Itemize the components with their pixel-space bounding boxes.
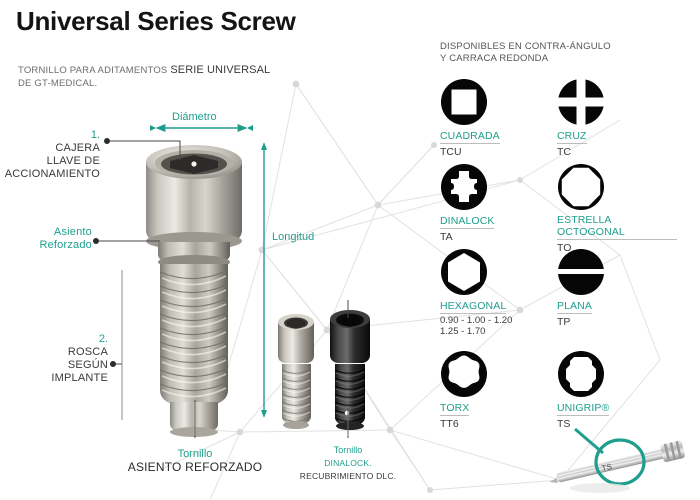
callout-rosca-line3: IMPLANTE: [0, 372, 108, 385]
callout-rosca-line2: SEGÚN: [0, 359, 108, 372]
intro-line2: DE GT-MEDICAL.: [18, 77, 278, 90]
driver-cell-estrella-octogonal[interactable]: ESTRELLA OCTOGONAL TO: [557, 163, 677, 254]
callout-rosca-number: 2.: [0, 333, 108, 346]
callout-cajera: 1. CAJERA LLAVE DE ACCIONAMIENTO: [0, 129, 100, 181]
driver-code-cruz: TC: [557, 146, 677, 158]
length-label: Longitud: [272, 231, 314, 243]
driver-cell-dinalock[interactable]: DINALOCK TA: [440, 163, 560, 243]
right-panel-header-line1: DISPONIBLES EN CONTRA-ÁNGULO: [440, 41, 611, 53]
driver-name-estrella-octogonal: ESTRELLA OCTOGONAL: [557, 214, 677, 240]
driver-name-dinalock: DINALOCK: [440, 215, 494, 229]
intro-caption: TORNILLO PARA ADITAMENTOS SERIE UNIVERSA…: [18, 64, 278, 90]
callout-cajera-line1: CAJERA: [0, 142, 100, 155]
caption-dinalock-mid: DINALOCK.: [283, 457, 413, 470]
driver-cell-hexagonal[interactable]: HEXAGONAL 0.90 - 1.00 - 1.20 1.25 - 1.70: [440, 248, 560, 337]
right-panel-header: DISPONIBLES EN CONTRA-ÁNGULO Y CARRACA R…: [440, 41, 611, 65]
driver-name-unigrip: UNIGRIP®: [557, 402, 609, 416]
driver-name-torx: TORX: [440, 402, 469, 416]
caption-main-screw: Tornillo ASIENTO REFORZADO: [120, 448, 270, 474]
tool-marking-text: TS: [601, 462, 613, 473]
driver-cell-unigrip[interactable]: UNIGRIP® TS: [557, 350, 677, 430]
driver-name-hexagonal: HEXAGONAL: [440, 300, 506, 314]
hexagon-drive-icon: [440, 248, 488, 296]
callout-asiento-line2: Reforzado: [0, 239, 92, 252]
caption-dinalock-bottom: RECUBRIMIENTO DLC.: [283, 470, 413, 483]
octagon-drive-icon: [557, 163, 605, 211]
driver-sizes-hexagonal: 0.90 - 1.00 - 1.20 1.25 - 1.70: [440, 315, 560, 337]
caption-dinalock-top: Tornillo: [283, 444, 413, 457]
intro-line1-strong: SERIE UNIVERSAL: [170, 64, 270, 76]
callout-cajera-number: 1.: [0, 129, 100, 142]
cross-drive-icon: [557, 78, 605, 126]
intro-line1-small: TORNILLO PARA ADITAMENTOS: [18, 65, 167, 76]
driver-name-plana: PLANA: [557, 300, 592, 314]
callout-rosca-line1: ROSCA: [0, 346, 108, 359]
driver-name-cruz: CRUZ: [557, 130, 587, 144]
caption-main-screw-bottom: ASIENTO REFORZADO: [120, 461, 270, 474]
dinalock-dlc-screw-illustration: [322, 305, 378, 440]
tool-marking-pointer-line: [575, 429, 603, 453]
torx-drive-icon: [440, 350, 488, 398]
callout-rosca: 2. ROSCA SEGÚN IMPLANTE: [0, 333, 108, 385]
driver-cell-torx[interactable]: TORX TT6: [440, 350, 560, 430]
dinalock-drive-icon: [440, 163, 488, 211]
driver-cell-cuadrada[interactable]: CUADRADA TCU: [440, 78, 560, 158]
main-screw-illustration: [138, 138, 262, 438]
driver-tool-illustration: TS: [545, 425, 700, 500]
callout-asiento-reforzado: Asiento Reforzado: [0, 226, 92, 252]
caption-dinalock-screw: Tornillo DINALOCK. RECUBRIMIENTO DLC.: [283, 444, 413, 483]
callout-cajera-line3: ACCIONAMIENTO: [0, 168, 100, 181]
driver-cell-cruz[interactable]: CRUZ TC: [557, 78, 677, 158]
flat-drive-icon: [557, 248, 605, 296]
driver-code-torx: TT6: [440, 418, 560, 430]
poster-root: Universal Series Screw TORNILLO PARA ADI…: [0, 0, 700, 500]
square-drive-icon: [440, 78, 488, 126]
unigrip-drive-icon: [557, 350, 605, 398]
small-steel-screw-illustration: [270, 310, 322, 440]
driver-code-dinalock: TA: [440, 231, 560, 243]
diameter-label: Diámetro: [172, 111, 217, 123]
driver-code-plana: TP: [557, 316, 677, 328]
driver-cell-plana[interactable]: PLANA TP: [557, 248, 677, 328]
callout-asiento-line1: Asiento: [0, 226, 92, 239]
page-title: Universal Series Screw: [16, 6, 296, 37]
right-panel-header-line2: Y CARRACA REDONDA: [440, 53, 611, 65]
callout-cajera-line2: LLAVE DE: [0, 155, 100, 168]
driver-code-cuadrada: TCU: [440, 146, 560, 158]
driver-name-cuadrada: CUADRADA: [440, 130, 500, 144]
